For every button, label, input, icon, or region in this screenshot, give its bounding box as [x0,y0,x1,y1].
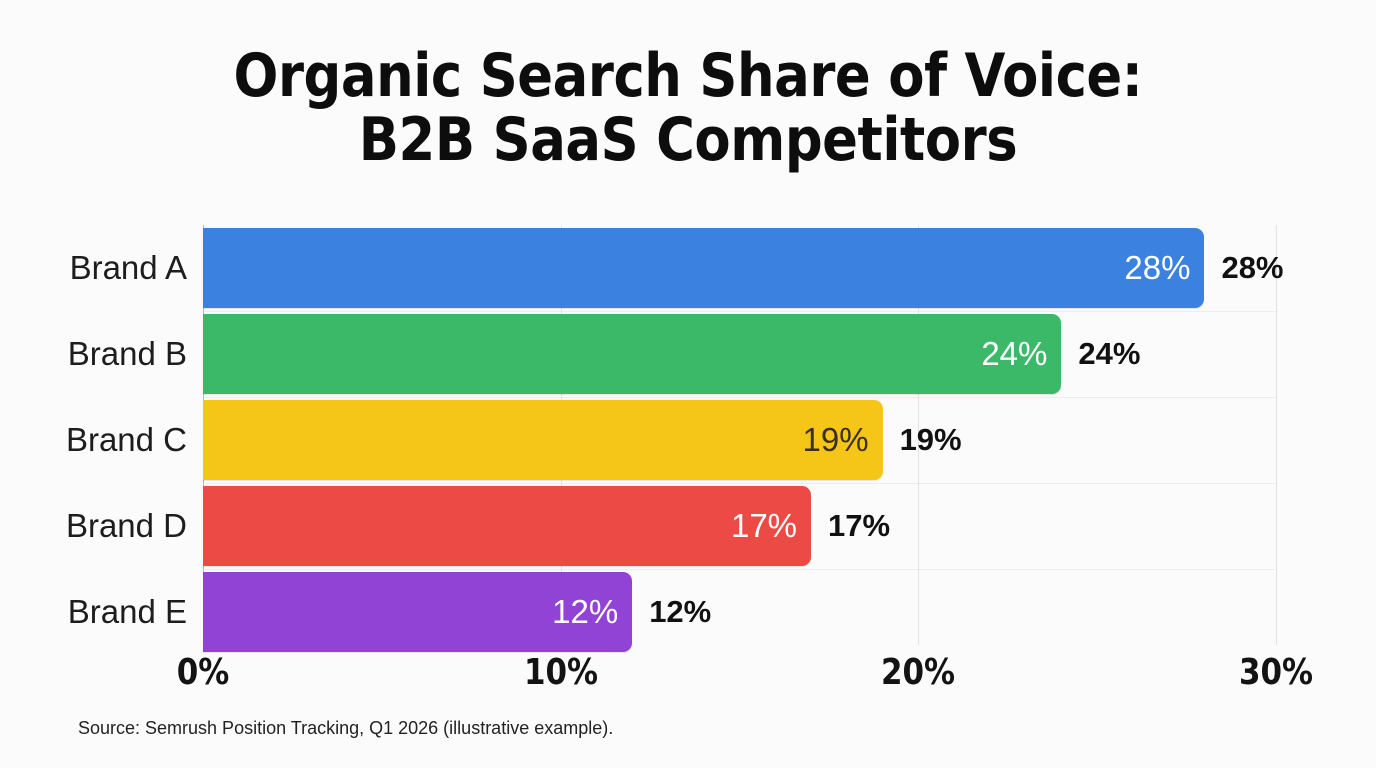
bar-value-outside: 28% [1221,250,1283,286]
category-label-brand-d: Brand D [66,483,187,569]
bar-row: 19%19% [203,397,1276,483]
source-note: Source: Semrush Position Tracking, Q1 20… [78,718,613,739]
category-label-brand-c: Brand C [66,397,187,483]
bar-value-outside: 24% [1078,336,1140,372]
chart-title: Organic Search Share of Voice: B2B SaaS … [0,44,1376,172]
bar-value-inside: 17% [731,507,797,545]
plot-area: 28%28%24%24%19%19%17%17%12%12% [203,225,1276,645]
bar-value-inside: 28% [1124,249,1190,287]
bar-value-inside: 24% [981,335,1047,373]
x-tick-30pct: 30% [1224,652,1327,693]
bar-brand-b[interactable]: 24% [203,314,1061,394]
bar-row: 17%17% [203,483,1276,569]
bar-value-outside: 17% [828,508,890,544]
gridline-x-30 [1276,225,1277,645]
category-label-brand-b: Brand B [68,311,187,397]
bar-value-outside: 19% [900,422,962,458]
chart-title-line-2: B2B SaaS Competitors [83,108,1294,172]
bar-brand-c[interactable]: 19% [203,400,883,480]
chart-title-line-1: Organic Search Share of Voice: [83,44,1294,108]
bar-row: 24%24% [203,311,1276,397]
x-tick-0pct: 0% [151,652,254,693]
x-tick-20pct: 20% [867,652,970,693]
bar-row: 28%28% [203,225,1276,311]
x-tick-10pct: 10% [509,652,612,693]
chart-canvas: Organic Search Share of Voice: B2B SaaS … [0,0,1376,768]
category-label-brand-a: Brand A [70,225,187,311]
bar-brand-a[interactable]: 28% [203,228,1204,308]
category-label-brand-e: Brand E [68,569,187,655]
bar-value-outside: 12% [649,594,711,630]
bar-brand-e[interactable]: 12% [203,572,632,652]
bar-value-inside: 12% [552,593,618,631]
bar-brand-d[interactable]: 17% [203,486,811,566]
bar-row: 12%12% [203,569,1276,655]
bar-value-inside: 19% [803,421,869,459]
